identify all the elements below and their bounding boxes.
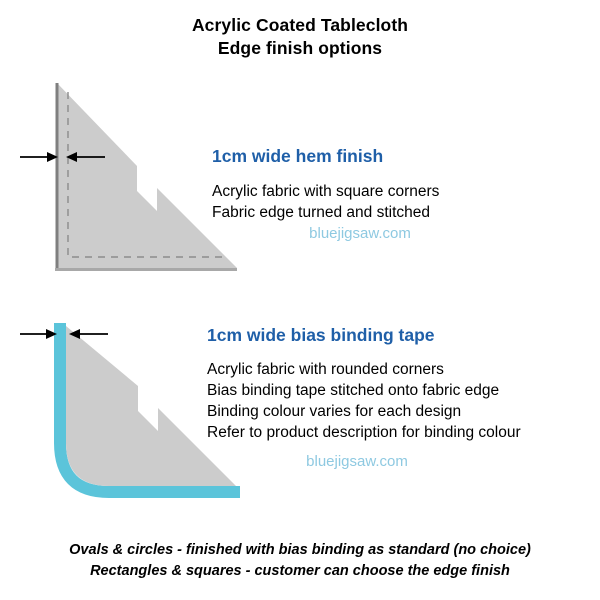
bias-binding-line-4: Refer to product description for binding…: [207, 422, 597, 443]
bias-binding-brand: bluejigsaw.com: [207, 451, 507, 472]
footer-line-2: Rectangles & squares - customer can choo…: [0, 561, 600, 582]
page-title: Acrylic Coated Tablecloth Edge finish op…: [0, 14, 600, 60]
bias-binding-line-1: Acrylic fabric with rounded corners: [207, 359, 597, 380]
hem-width-arrow-left: [20, 152, 58, 162]
hem-finish-line-2: Fabric edge turned and stitched: [212, 202, 592, 223]
hem-finish-line-1: Acrylic fabric with square corners: [212, 181, 592, 202]
hem-finish-heading: 1cm wide hem finish: [212, 145, 592, 167]
footer-line-1: Ovals & circles - finished with bias bin…: [0, 540, 600, 561]
fabric-shape-square-corner: [57, 83, 237, 268]
hem-finish-brand: bluejigsaw.com: [212, 223, 508, 244]
footer-note: Ovals & circles - finished with bias bin…: [0, 540, 600, 582]
hem-finish-text-block: 1cm wide hem finish Acrylic fabric with …: [212, 145, 592, 244]
bias-binding-line-3: Binding colour varies for each design: [207, 401, 597, 422]
page-title-line-2: Edge finish options: [0, 37, 600, 60]
page-title-line-1: Acrylic Coated Tablecloth: [0, 14, 600, 37]
bias-binding-line-2: Bias binding tape stitched onto fabric e…: [207, 380, 597, 401]
bias-binding-text-block: 1cm wide bias binding tape Acrylic fabri…: [207, 324, 597, 472]
edge-finish-options-infographic: Acrylic Coated Tablecloth Edge finish op…: [0, 0, 600, 600]
binding-width-arrow-left: [20, 329, 57, 339]
bias-binding-heading: 1cm wide bias binding tape: [207, 324, 597, 346]
